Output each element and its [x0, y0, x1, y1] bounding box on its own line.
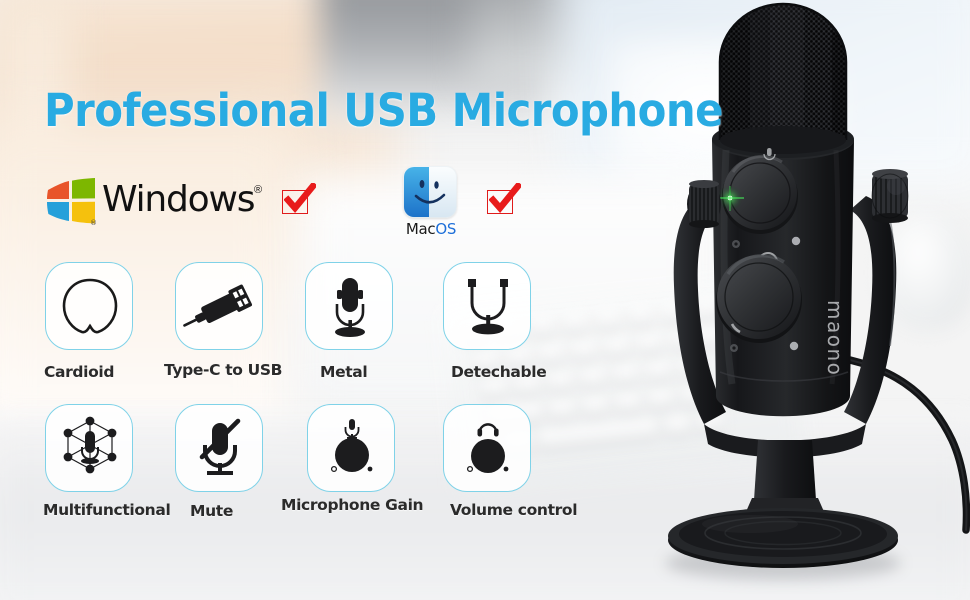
feature-tile-metal — [305, 262, 393, 350]
feature-label-mute: Mute — [190, 502, 233, 520]
compatibility-item-windows: ® Windows ® — [40, 170, 280, 230]
svg-text:®: ® — [90, 219, 97, 226]
windows-flag-icon: ® — [45, 178, 97, 226]
gain-knob-icon — [308, 405, 396, 493]
finder-face-icon — [403, 166, 457, 218]
windows-supported-check — [282, 190, 322, 230]
brand-wordmark: maono — [823, 300, 847, 376]
detachable-yoke-icon — [444, 263, 532, 351]
compatibility-item-macos: MacOS — [403, 166, 463, 242]
feature-tile-volume-control — [443, 404, 531, 492]
feature-label-multifunctional: Multifunctional — [43, 501, 170, 519]
microphone-stand-icon — [306, 263, 394, 351]
feature-label-type-c-to-usb: Type-C to USB — [164, 361, 282, 379]
feature-tile-cardioid — [45, 262, 133, 350]
feature-tile-mute — [175, 404, 263, 492]
cardioid-pattern-icon — [46, 263, 134, 351]
red-checkmark-icon — [284, 183, 316, 215]
microphone-mute-icon — [176, 405, 264, 493]
windows-registered-mark: ® — [254, 184, 262, 196]
feature-label-microphone-gain: Microphone Gain — [281, 496, 423, 514]
feature-label-volume-control: Volume control — [450, 501, 577, 519]
macos-label-suffix: OS — [435, 220, 456, 238]
macos-wordmark: MacOS — [402, 220, 460, 238]
usb-connector-icon — [176, 263, 264, 351]
windows-wordmark: Windows — [102, 179, 254, 220]
feature-label-cardioid: Cardioid — [44, 363, 114, 381]
feature-tile-microphone-gain — [307, 404, 395, 492]
feature-tile-type-c-to-usb — [175, 262, 263, 350]
feature-tile-multifunctional — [45, 404, 133, 492]
red-checkmark-icon — [489, 183, 521, 215]
feature-label-detechable: Detechable — [451, 363, 546, 381]
macos-supported-check — [487, 190, 527, 230]
feature-tile-detechable — [443, 262, 531, 350]
page-title: Professional USB Microphone — [44, 84, 723, 137]
macos-label-prefix: Mac — [406, 220, 435, 238]
network-nodes-icon — [46, 405, 134, 493]
feature-label-metal: Metal — [320, 363, 367, 381]
volume-knob-icon — [444, 405, 532, 493]
